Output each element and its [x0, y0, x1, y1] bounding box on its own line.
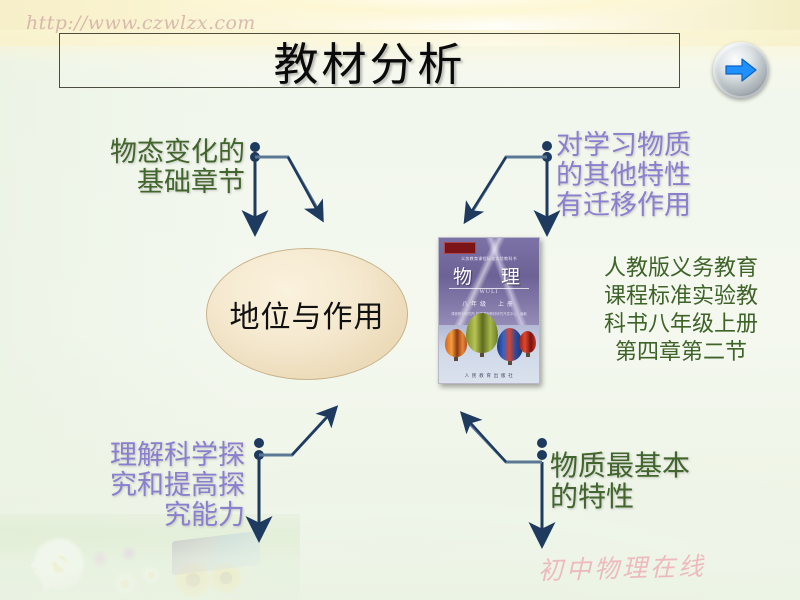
- callout-top-right: 对学习物质 的其他特性 有迁移作用: [556, 131, 691, 222]
- textbook-cover-image: 义务教育课程标准实验教科书 物 理 WULI 八年级 上册 课程教材研究所 物理…: [438, 237, 540, 384]
- center-node-label: 地位与作用: [230, 292, 385, 336]
- callout-bottom-right: 物质最基本 的特性: [550, 450, 690, 513]
- bottom-watermark: 初中物理在线: [538, 547, 707, 587]
- textbook-caption: 人教版义务教育 课程标准实验教 科书八年级上册 第四章第二节: [572, 255, 790, 368]
- textbook-publisher: 人 民 教 育 出 版 社: [439, 373, 539, 379]
- center-node-ellipse[interactable]: 地位与作用: [206, 248, 408, 380]
- callout-top-left: 物态变化的 基础章节: [60, 138, 245, 198]
- next-slide-button[interactable]: [713, 42, 769, 98]
- textbook-approval-tag: [444, 242, 476, 254]
- balloon-red: [519, 331, 536, 353]
- arrow-right-icon: [724, 57, 758, 83]
- textbook-grade: 八年级 上册: [439, 299, 539, 308]
- callout-bottom-left: 理解科学探 究和提高探 究能力: [65, 441, 245, 532]
- balloon-green: [466, 313, 498, 353]
- balloon-orange: [445, 329, 467, 357]
- slide-canvas: http://www.czwlzx.com 教材分析: [0, 0, 800, 600]
- textbook-title: 物 理: [439, 262, 539, 289]
- page-title: 教材分析: [59, 31, 680, 89]
- textbook-pinyin: WULI: [439, 289, 539, 295]
